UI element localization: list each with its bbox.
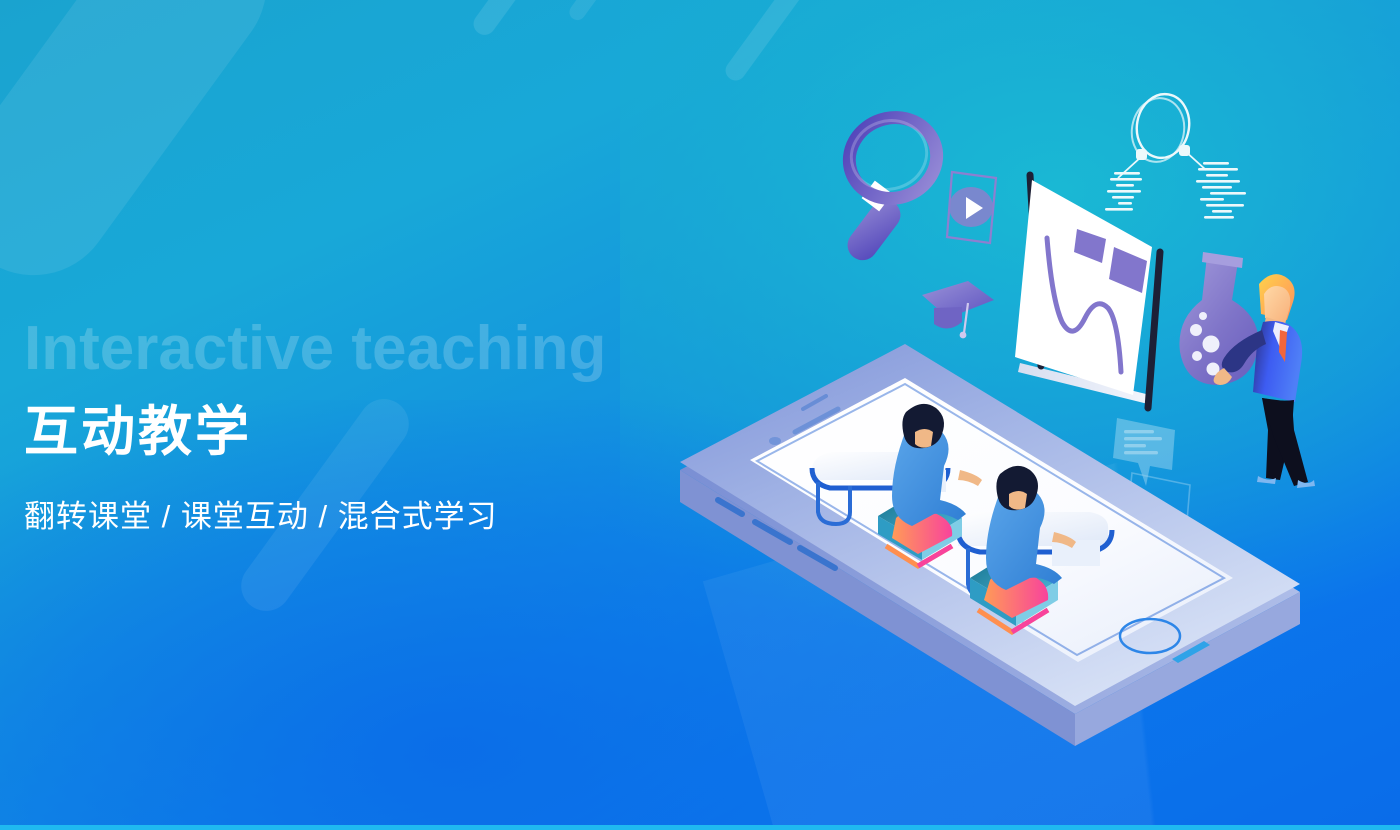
video-play-icon: [947, 172, 996, 243]
ghost-heading: Interactive teaching: [24, 318, 606, 380]
student-figure-2: [970, 466, 1076, 632]
flask-icon: [1179, 252, 1258, 385]
graduation-cap-icon: [922, 281, 994, 338]
decorative-bar: [469, 0, 593, 39]
student-figure-1: [878, 404, 982, 566]
bottom-accent-strip: [0, 825, 1400, 830]
hero-copy: Interactive teaching 互动教学 翻转课堂 / 课堂互动 / …: [24, 318, 606, 536]
decorative-bar: [0, 0, 298, 307]
page-title: 互动教学: [24, 404, 606, 461]
page-subtitle: 翻转课堂 / 课堂互动 / 混合式学习: [24, 491, 606, 536]
decorative-bar: [566, 0, 649, 23]
magnifier-icon: [839, 106, 947, 266]
desk-2: [958, 512, 1112, 598]
decorative-diagonal-wedge: [703, 306, 1400, 830]
teacher-figure: [1214, 274, 1315, 488]
background-teal-wash: [620, 0, 1400, 640]
chat-bubble-icon: [1113, 418, 1190, 535]
decorative-bar: [722, 0, 809, 84]
ribbon-notes-icon: [1105, 90, 1246, 219]
whiteboard-easel: [1015, 175, 1160, 408]
tablet-device: [680, 344, 1300, 746]
banner-hero: Interactive teaching 互动教学 翻转课堂 / 课堂互动 / …: [0, 0, 1400, 830]
desk-1: [812, 452, 948, 524]
